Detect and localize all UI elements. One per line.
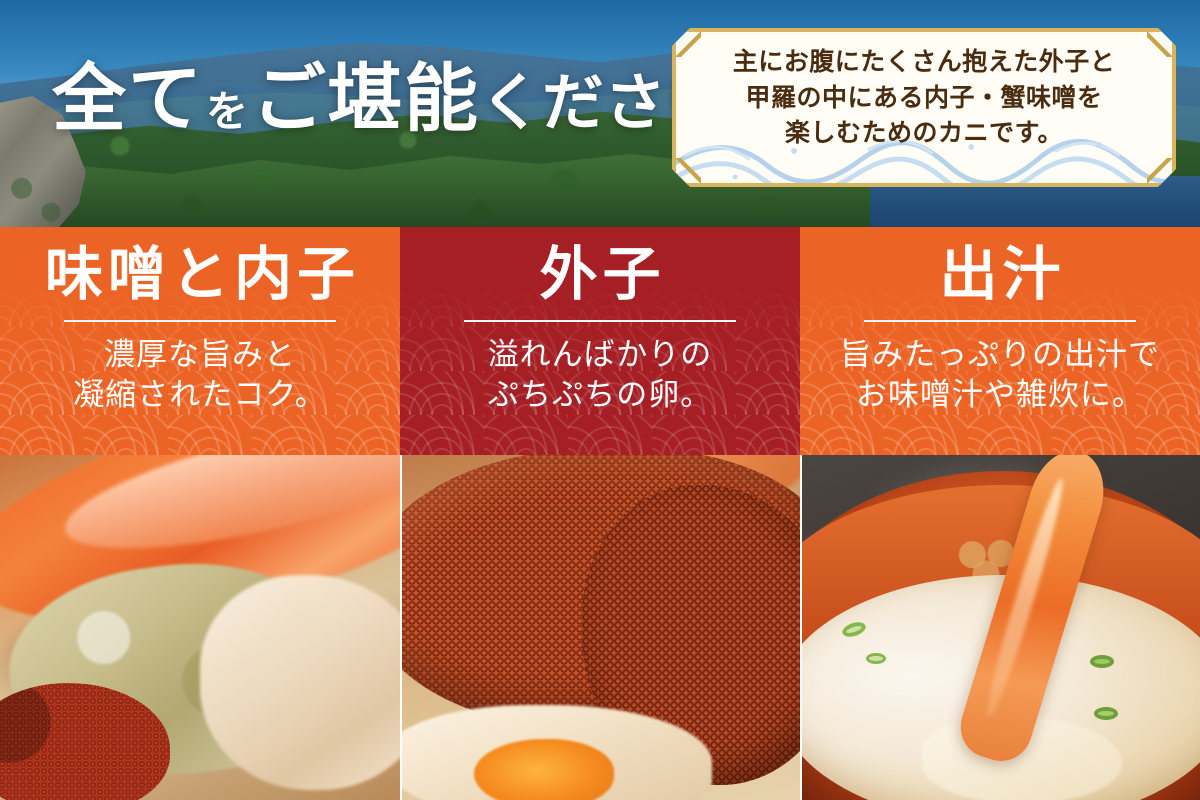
panel-title: 味噌と内子: [0, 243, 400, 306]
headline-part-1: 全て: [52, 56, 204, 142]
panel-subtitle-line-2: 凝縮されたコク。: [0, 375, 400, 415]
callout-line-3: 楽しむためのカニです。: [676, 115, 1172, 151]
headline-particle-wo: を: [204, 87, 252, 136]
callout-line-2: 甲羅の中にある内子・蟹味噌を: [676, 80, 1172, 116]
panel-subtitle: 溢れんばかりの ぷちぷちの卵。: [400, 335, 800, 416]
photo-strip: [0, 455, 1200, 800]
panel-subtitle: 濃厚な旨みと 凝縮されたコク。: [0, 335, 400, 416]
panel-subtitle: 旨みたっぷりの出汁で お味噌汁や雑炊に。: [800, 335, 1200, 416]
feature-panel-strip: 味噌と内子 濃厚な旨みと 凝縮されたコク。 外子 溢れんばかりの ぷちぷちの卵。: [0, 227, 1200, 455]
panel-dashi: 出汁 旨みたっぷりの出汁で お味噌汁や雑炊に。: [800, 227, 1200, 455]
green-onion-slice: [1090, 655, 1114, 668]
callout-line-1: 主にお腹にたくさん抱えた外子と: [676, 44, 1172, 80]
panel-title: 外子: [400, 243, 800, 306]
callout-text: 主にお腹にたくさん抱えた外子と 甲羅の中にある内子・蟹味噌を 楽しむためのカニで…: [676, 44, 1172, 151]
panel-divider: [64, 320, 336, 322]
panel-content: 外子 溢れんばかりの ぷちぷちの卵。: [400, 227, 800, 415]
panel-content: 出汁 旨みたっぷりの出汁で お味噌汁や雑炊に。: [800, 227, 1200, 415]
inner-roe-orange: [474, 739, 614, 800]
green-onion-slice: [1094, 707, 1118, 720]
callout-box: 主にお腹にたくさん抱えた外子と 甲羅の中にある内子・蟹味噌を 楽しむためのカニで…: [672, 28, 1176, 187]
panel-subtitle-line-1: 溢れんばかりの: [400, 335, 800, 375]
hero-headline: 全てをご堪能ください: [52, 62, 728, 136]
photo-crab-miso: [0, 455, 400, 800]
crab-meat-cream: [200, 575, 400, 790]
panel-divider: [464, 320, 736, 322]
panel-sotoko: 外子 溢れんばかりの ぷちぷちの卵。: [400, 227, 800, 455]
panel-subtitle-line-1: 旨みたっぷりの出汁で: [800, 335, 1200, 375]
panel-subtitle-line-2: お味噌汁や雑炊に。: [800, 375, 1200, 415]
promo-page: 全てをご堪能ください: [0, 0, 1200, 800]
panel-content: 味噌と内子 濃厚な旨みと 凝縮されたコク。: [0, 227, 400, 415]
panel-miso-naiko: 味噌と内子 濃厚な旨みと 凝縮されたコク。: [0, 227, 400, 455]
panel-title: 出汁: [800, 243, 1200, 306]
green-onion-slice: [866, 653, 886, 664]
hero-banner: 全てをご堪能ください: [0, 0, 1200, 227]
photo-crab-roe: [400, 455, 800, 800]
headline-part-2: ご堪能: [252, 56, 480, 142]
photo-miso-soup: [800, 455, 1200, 800]
panel-subtitle-line-2: ぷちぷちの卵。: [400, 375, 800, 415]
panel-subtitle-line-1: 濃厚な旨みと: [0, 335, 400, 375]
panel-divider: [864, 320, 1136, 322]
